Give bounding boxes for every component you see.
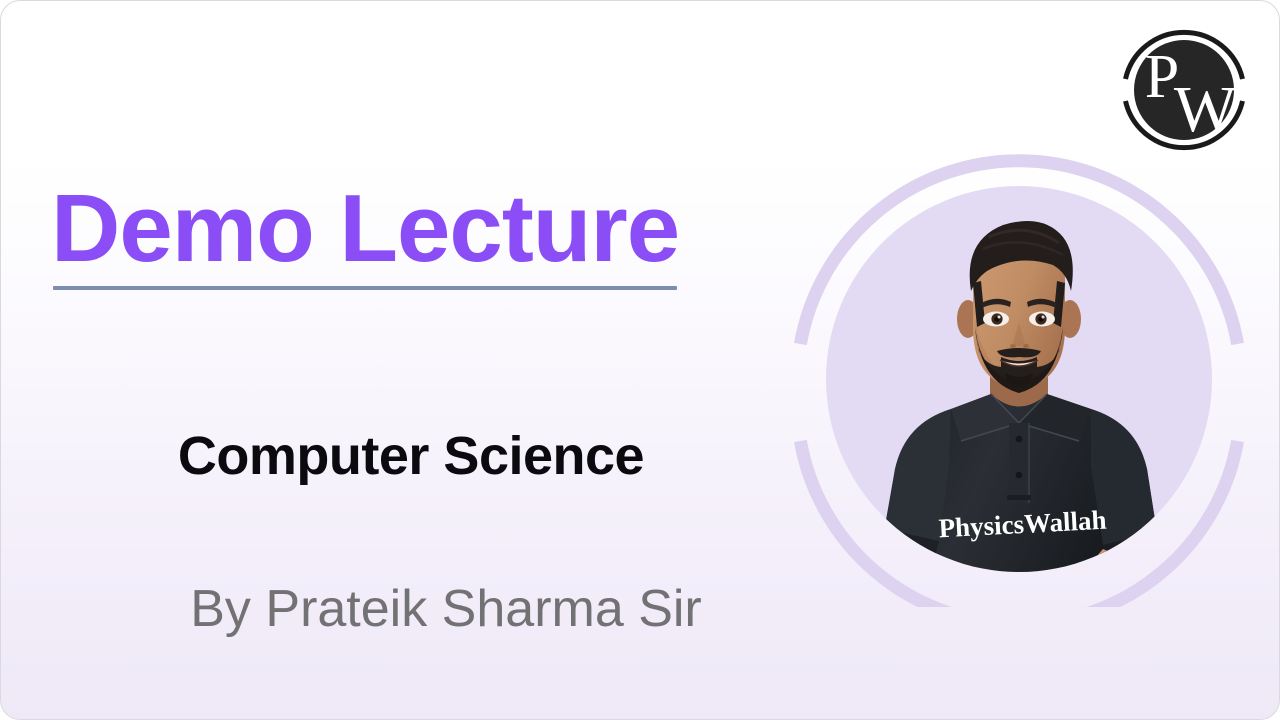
instructor-portrait: PhysicsWallah [826, 186, 1212, 572]
pw-logo-letter-w: W [1174, 73, 1237, 146]
pw-logo: P W [1113, 19, 1255, 161]
portrait-button-bottom [1016, 472, 1023, 479]
presenter-byline: By Prateik Sharma Sir [1, 579, 891, 639]
portrait-medallion: PhysicsWallah [791, 151, 1247, 607]
portrait-disc: PhysicsWallah [826, 186, 1212, 572]
portrait-eye-right [1029, 312, 1055, 327]
subject-title: Computer Science [1, 425, 821, 487]
portrait-button-top [1016, 436, 1023, 443]
portrait-placket [1009, 423, 1029, 503]
slide-card: P W [0, 0, 1280, 720]
title-underline [53, 286, 677, 290]
page-title: Demo Lecture [51, 181, 679, 277]
portrait-eye-left [983, 312, 1009, 327]
